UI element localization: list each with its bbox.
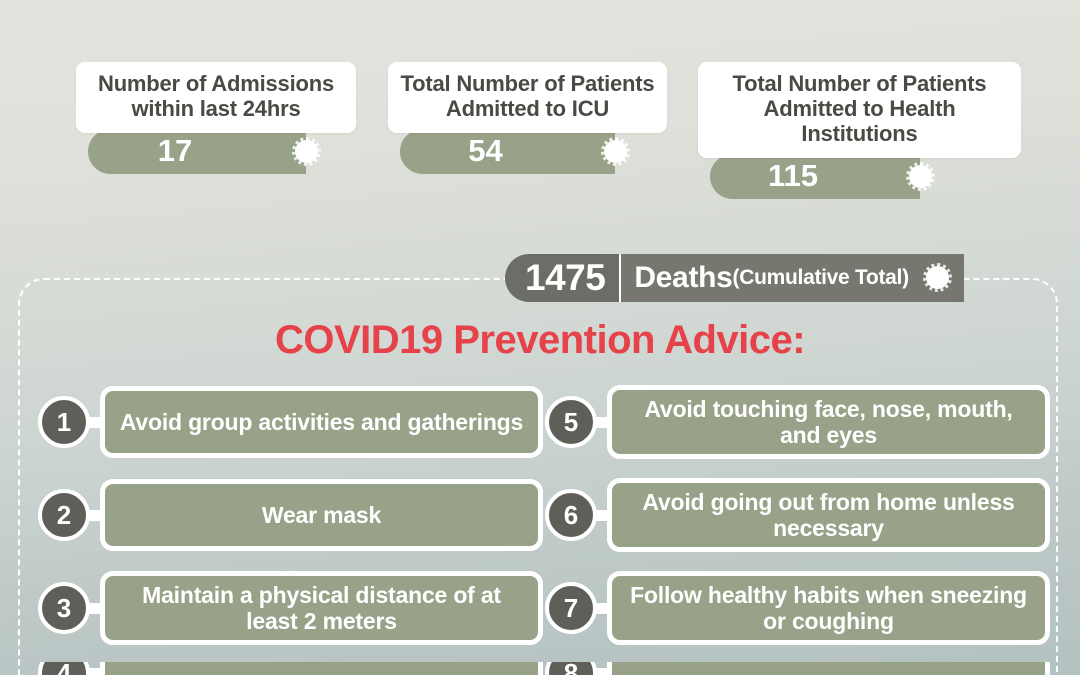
stat-card-title: Number of Admissions within last 24hrs	[76, 62, 356, 133]
badge-connector	[596, 417, 608, 428]
advice-text: Avoid group activities and gatherings	[100, 386, 543, 458]
advice-number-badge: 2	[38, 489, 90, 541]
advice-item[interactable]: 5 Avoid touching face, nose, mouth, and …	[545, 383, 1050, 461]
advice-number-badge: 6	[545, 489, 597, 541]
badge-connector	[596, 668, 608, 675]
stat-card-icu: Total Number of Patients Admitted to ICU…	[388, 62, 667, 174]
advice-column-right: 5 Avoid touching face, nose, mouth, and …	[545, 383, 1050, 675]
advice-number-badge: 5	[545, 396, 597, 448]
badge-connector	[596, 603, 608, 614]
badge-connector	[89, 603, 101, 614]
advice-text: Wear mask	[100, 479, 543, 551]
infographic-canvas: Number of Admissions within last 24hrs 1…	[0, 0, 1080, 675]
advice-number-badge: 8	[545, 662, 597, 675]
stat-card-health-institutions: Total Number of Patients Admitted to Hea…	[698, 62, 1021, 199]
advice-column-left: 1 Avoid group activities and gatherings …	[38, 383, 543, 675]
advice-text	[607, 662, 1050, 675]
advice-item[interactable]: 6 Avoid going out from home unless neces…	[545, 476, 1050, 554]
badge-connector	[596, 510, 608, 521]
advice-item[interactable]: 3 Maintain a physical distance of at lea…	[38, 569, 543, 647]
advice-text: Avoid touching face, nose, mouth, and ey…	[607, 385, 1050, 459]
dot-marker-icon	[292, 137, 321, 166]
advice-item[interactable]: 4	[38, 662, 543, 675]
advice-text: Maintain a physical distance of at least…	[100, 571, 543, 645]
stat-card-title: Total Number of Patients Admitted to ICU	[388, 62, 667, 133]
advice-number-badge: 3	[38, 582, 90, 634]
advice-item[interactable]: 2 Wear mask	[38, 476, 543, 554]
stat-card-title: Total Number of Patients Admitted to Hea…	[698, 62, 1021, 158]
advice-number-badge: 4	[38, 662, 90, 675]
deaths-count: 1475	[505, 254, 619, 302]
advice-item[interactable]: 7 Follow healthy habits when sneezing or…	[545, 569, 1050, 647]
dot-marker-icon	[923, 263, 952, 292]
dot-marker-icon	[906, 162, 935, 191]
advice-text: Follow healthy habits when sneezing or c…	[607, 571, 1050, 645]
badge-connector	[89, 668, 101, 675]
stat-card-value-bar: 54	[388, 129, 667, 174]
badge-connector	[89, 417, 101, 428]
deaths-banner: 1475 Deaths (Cumulative Total)	[505, 254, 964, 302]
advice-number-badge: 7	[545, 582, 597, 634]
dot-marker-icon	[601, 137, 630, 166]
stat-value: 54	[400, 129, 615, 174]
stat-value: 17	[88, 129, 306, 174]
badge-connector	[89, 510, 101, 521]
advice-item[interactable]: 8	[545, 662, 1050, 675]
advice-number-badge: 1	[38, 396, 90, 448]
stat-value: 115	[710, 154, 920, 199]
stat-card-value-bar: 115	[698, 154, 1021, 199]
deaths-banner-tail	[919, 254, 964, 302]
deaths-label-text: Deaths	[634, 261, 732, 295]
deaths-label: Deaths (Cumulative Total)	[621, 254, 918, 302]
advice-item[interactable]: 1 Avoid group activities and gatherings	[38, 383, 543, 461]
advice-text	[100, 662, 543, 675]
stat-card-admissions-24hrs: Number of Admissions within last 24hrs 1…	[76, 62, 356, 174]
deaths-qualifier-text: (Cumulative Total)	[733, 266, 909, 290]
page-title: COVID19 Prevention Advice:	[0, 318, 1080, 363]
advice-text: Avoid going out from home unless necessa…	[607, 478, 1050, 552]
stat-card-value-bar: 17	[76, 129, 356, 174]
